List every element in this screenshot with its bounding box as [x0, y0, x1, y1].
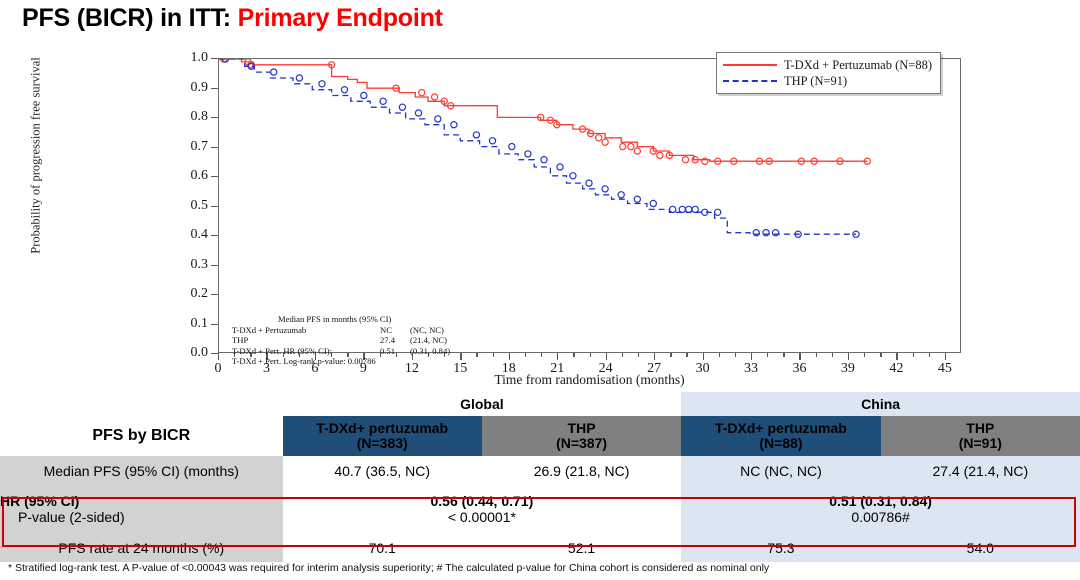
cell-median-global-thp: 26.9 (21.8, NC)	[482, 456, 681, 485]
cell-median-china-thp: 27.4 (21.4, NC)	[881, 456, 1080, 485]
x-tick-mark	[703, 353, 704, 360]
table-header-row: PFS by BICR T-DXd+ pertuzumab (N=383) TH…	[0, 416, 1080, 456]
censor-mark	[586, 180, 592, 186]
censor-mark	[319, 81, 325, 87]
censor-mark	[620, 144, 626, 150]
cell-median-china-tdxd: NC (NC, NC)	[681, 456, 880, 485]
col-header-name: T-DXd+ pertuzumab	[316, 420, 448, 436]
censor-mark	[435, 116, 441, 122]
censor-mark	[679, 206, 685, 212]
legend-line-dashed-icon	[723, 76, 777, 86]
col-header-china-thp: THP (N=91)	[881, 416, 1080, 456]
censor-mark	[682, 157, 688, 163]
x-tick-mark	[896, 353, 897, 360]
row-label-hr-main: HR (95% CI)	[0, 493, 79, 509]
x-minor-tick-mark	[525, 353, 526, 357]
x-minor-tick-mark	[929, 353, 930, 357]
cell-pvalue-global: < 0.00001*	[283, 509, 682, 525]
x-tick-mark	[606, 353, 607, 360]
y-tick-mark	[211, 176, 218, 177]
table-row: PFS rate at 24 months (%) 70.1 52.1 75.3…	[0, 533, 1080, 562]
censor-mark	[602, 139, 608, 145]
cell-hr-global: 0.56 (0.44, 0.71) < 0.00001*	[283, 485, 682, 533]
cell-rate-china-tdxd: 75.3	[681, 533, 880, 562]
x-tick-mark	[751, 353, 752, 360]
x-tick-mark	[557, 353, 558, 360]
y-axis-label: Probability of progression free survival	[29, 36, 44, 276]
censor-mark	[657, 152, 663, 158]
y-tick-label: 0.1	[168, 316, 208, 332]
censor-mark	[763, 230, 769, 236]
x-minor-tick-mark	[622, 353, 623, 357]
stats-row: T-DXd + PertuzumabNC(NC, NC)	[232, 325, 450, 336]
col-header-n: (N=383)	[357, 435, 408, 451]
x-minor-tick-mark	[783, 353, 784, 357]
censor-mark	[618, 192, 624, 198]
y-tick-label: 0.8	[168, 109, 208, 125]
y-tick-mark	[211, 324, 218, 325]
y-tick-mark	[211, 206, 218, 207]
stats-row: T-DXd + Pert. HR (95% CI):0.51(0.31, 0.8…	[232, 346, 450, 357]
col-header-name: THP	[568, 420, 596, 436]
x-tick-mark	[509, 353, 510, 360]
row-label-hr: HR (95% CI) P-value (2-sided)	[0, 485, 283, 533]
y-tick-mark	[211, 147, 218, 148]
x-minor-tick-mark	[880, 353, 881, 357]
x-minor-tick-mark	[638, 353, 639, 357]
col-header-china-tdxd: T-DXd+ pertuzumab (N=88)	[681, 416, 880, 456]
stats-value: 27.4	[380, 335, 410, 346]
y-tick-mark	[211, 265, 218, 266]
stats-row: T-DXd + Pert. Log-rank p-value: 0.00786	[232, 356, 450, 367]
row-label-hr-sub: P-value (2-sided)	[0, 509, 283, 525]
cell-rate-china-thp: 54.0	[881, 533, 1080, 562]
censor-mark	[670, 206, 676, 212]
y-tick-mark	[211, 88, 218, 89]
x-minor-tick-mark	[493, 353, 494, 357]
x-minor-tick-mark	[686, 353, 687, 357]
censor-mark	[509, 144, 515, 150]
cell-rate-global-tdxd: 70.1	[283, 533, 482, 562]
x-tick-mark	[799, 353, 800, 360]
x-minor-tick-mark	[767, 353, 768, 357]
x-tick-mark	[848, 353, 849, 360]
col-header-global-tdxd: T-DXd+ pertuzumab (N=383)	[283, 416, 482, 456]
x-minor-tick-mark	[864, 353, 865, 357]
col-header-n: (N=387)	[556, 435, 607, 451]
x-minor-tick-mark	[719, 353, 720, 357]
km-curves	[219, 59, 959, 351]
band-spacer	[0, 392, 283, 416]
legend-line-solid-icon	[723, 60, 777, 70]
censor-mark	[415, 110, 421, 116]
y-tick-label: 0.5	[168, 198, 208, 214]
censor-mark	[602, 186, 608, 192]
stats-key: T-DXd + Pertuzumab	[232, 325, 380, 336]
km-chart: Probability of progression free survival…	[0, 40, 1080, 392]
censor-mark	[419, 90, 425, 96]
chart-legend: T-DXd + Pertuzumab (N=88) THP (N=91)	[716, 52, 941, 94]
censor-mark	[702, 158, 708, 164]
x-minor-tick-mark	[832, 353, 833, 357]
table-band-row: Global China	[0, 392, 1080, 416]
x-minor-tick-mark	[816, 353, 817, 357]
censor-mark	[634, 196, 640, 202]
censor-mark	[489, 138, 495, 144]
stats-header: Median PFS in months (95% CI)	[278, 314, 450, 325]
col-header-name: THP	[966, 420, 994, 436]
y-tick-label: 0.2	[168, 286, 208, 302]
y-tick-mark	[211, 235, 218, 236]
page-title-accent: Primary Endpoint	[238, 4, 443, 32]
row-label-rate: PFS rate at 24 months (%)	[0, 533, 283, 562]
x-minor-tick-mark	[913, 353, 914, 357]
x-minor-tick-mark	[670, 353, 671, 357]
stats-key: T-DXd + Pert. HR (95% CI):	[232, 346, 380, 357]
legend-label-tdxd: T-DXd + Pertuzumab (N=88)	[784, 58, 932, 73]
cell-hr-global-value: 0.56 (0.44, 0.71)	[431, 493, 534, 509]
cell-median-global-tdxd: 40.7 (36.5, NC)	[283, 456, 482, 485]
y-tick-mark	[211, 117, 218, 118]
stats-value: 0.51	[380, 346, 410, 357]
col-header-n: (N=91)	[959, 435, 1002, 451]
x-tick-mark	[945, 353, 946, 360]
censor-mark	[361, 92, 367, 98]
stats-ci: (21.4, NC)	[410, 335, 447, 346]
col-header-global-thp: THP (N=387)	[482, 416, 681, 456]
censor-mark	[525, 151, 531, 157]
x-axis-label: Time from randomisation (months)	[218, 372, 961, 388]
band-global: Global	[283, 392, 682, 416]
y-tick-label: 0.3	[168, 257, 208, 273]
col-header-n: (N=88)	[759, 435, 802, 451]
cell-pvalue-china: 0.00786#	[681, 509, 1080, 525]
x-minor-tick-mark	[476, 353, 477, 357]
y-tick-mark	[211, 294, 218, 295]
censor-mark	[692, 206, 698, 212]
censor-mark	[341, 87, 347, 93]
x-minor-tick-mark	[735, 353, 736, 357]
censor-mark	[432, 94, 438, 100]
censor-mark	[271, 69, 277, 75]
legend-label-thp: THP (N=91)	[784, 74, 847, 89]
censor-mark	[570, 173, 576, 179]
table-row: Median PFS (95% CI) (months) 40.7 (36.5,…	[0, 456, 1080, 485]
legend-item-thp: THP (N=91)	[723, 73, 932, 89]
x-tick-mark	[218, 353, 219, 360]
censor-mark	[557, 164, 563, 170]
row-label-median: Median PFS (95% CI) (months)	[0, 456, 283, 485]
censor-mark	[753, 230, 759, 236]
censor-mark	[541, 157, 547, 163]
y-tick-label: 0.4	[168, 227, 208, 243]
censor-mark	[686, 206, 692, 212]
censor-mark	[296, 75, 302, 81]
x-minor-tick-mark	[573, 353, 574, 357]
y-tick-label: 0.6	[168, 168, 208, 184]
cell-hr-china: 0.51 (0.31, 0.84) 0.00786#	[681, 485, 1080, 533]
censor-mark	[596, 135, 602, 141]
stats-ci: (NC, NC)	[410, 325, 444, 336]
cell-rate-global-thp: 52.1	[482, 533, 681, 562]
y-tick-label: 1.0	[168, 50, 208, 66]
censor-mark	[380, 98, 386, 104]
footnote: * Stratified log-rank test. A P-value of…	[8, 562, 769, 574]
x-minor-tick-mark	[541, 353, 542, 357]
col-header-name: T-DXd+ pertuzumab	[715, 420, 847, 436]
stats-key: THP	[232, 335, 380, 346]
page-title-main: PFS (BICR) in ITT:	[22, 4, 238, 32]
results-table: Global China PFS by BICR T-DXd+ pertuzum…	[0, 392, 1080, 562]
y-tick-mark	[211, 58, 218, 59]
y-tick-label: 0.9	[168, 80, 208, 96]
stats-key: T-DXd + Pert. Log-rank p-value: 0.00786	[232, 356, 376, 367]
stats-row: THP27.4(21.4, NC)	[232, 335, 450, 346]
table-row-hr: HR (95% CI) P-value (2-sided) 0.56 (0.44…	[0, 485, 1080, 533]
censor-mark	[715, 209, 721, 215]
x-minor-tick-mark	[590, 353, 591, 357]
x-tick-mark	[460, 353, 461, 360]
row-label-header: PFS by BICR	[92, 427, 190, 444]
band-china: China	[681, 392, 1080, 416]
censor-mark	[628, 144, 634, 150]
y-tick-label: 0.7	[168, 139, 208, 155]
censor-mark	[634, 148, 640, 154]
y-tick-mark	[211, 353, 218, 354]
plot-frame	[218, 58, 961, 353]
stats-ci: (0.31, 0.84)	[410, 346, 450, 357]
censor-mark	[451, 122, 457, 128]
stats-value: NC	[380, 325, 410, 336]
chart-stats-annotation: Median PFS in months (95% CI) T-DXd + Pe…	[232, 314, 450, 367]
slide: PFS (BICR) in ITT: Primary Endpoint Prob…	[0, 0, 1080, 580]
censor-mark	[650, 200, 656, 206]
y-tick-label: 0.0	[168, 345, 208, 361]
row-label-header-cell: PFS by BICR	[0, 416, 283, 456]
x-tick-mark	[654, 353, 655, 360]
censor-mark	[399, 104, 405, 110]
legend-item-tdxd: T-DXd + Pertuzumab (N=88)	[723, 57, 932, 73]
page-title: PFS (BICR) in ITT: Primary Endpoint	[22, 4, 443, 33]
censor-mark	[473, 132, 479, 138]
censor-mark	[773, 230, 779, 236]
cell-hr-china-value: 0.51 (0.31, 0.84)	[829, 493, 932, 509]
